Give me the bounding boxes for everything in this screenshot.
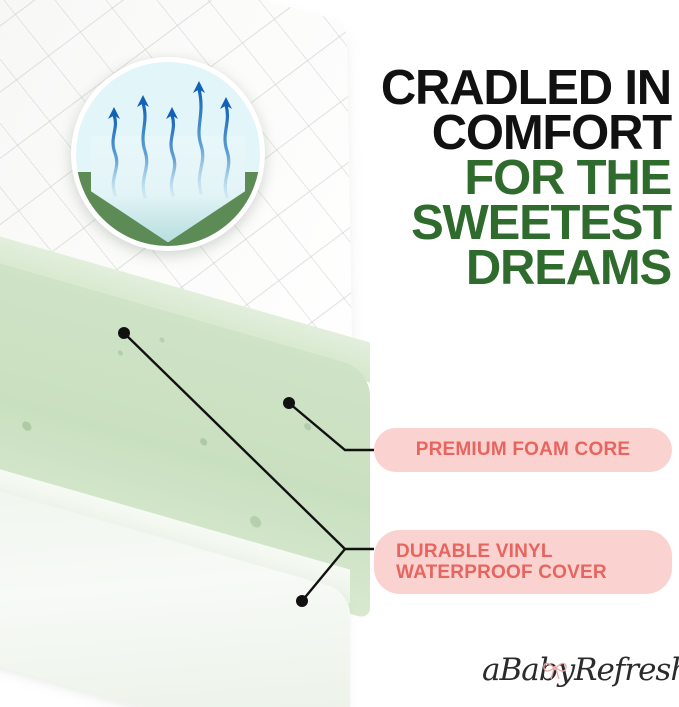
brand-logo-text: aBabyRefresh [482, 652, 679, 688]
bow-icon [542, 658, 568, 680]
badge-premium-foam-core: PREMIUM FOAM CORE [374, 428, 672, 472]
badge-durable-vinyl-line-2: WATERPROOF COVER [396, 562, 607, 583]
headline-line-1: CRADLED IN [311, 66, 671, 111]
headline-line-5: DREAMS [311, 246, 671, 291]
badge-durable-vinyl-line-1: DURABLE VINYL [396, 541, 553, 562]
brand-logo-name: aBabyRefresh [482, 652, 679, 688]
badge-durable-vinyl-label: DURABLE VINYL WATERPROOF COVER [396, 541, 607, 584]
inset-circle [71, 57, 265, 251]
headline: CRADLED IN COMFORT FOR THE SWEETEST DREA… [311, 66, 671, 291]
headline-line-4: SWEETEST [311, 201, 671, 246]
headline-line-3: FOR THE [311, 156, 671, 201]
brand-logo: aBabyRefresh [482, 652, 672, 694]
badge-durable-vinyl-waterproof-cover: DURABLE VINYL WATERPROOF COVER [374, 530, 672, 594]
headline-line-2: COMFORT [311, 111, 671, 156]
product-infographic: CRADLED IN COMFORT FOR THE SWEETEST DREA… [0, 0, 679, 707]
breathability-inset [71, 45, 267, 253]
badge-premium-foam-core-label: PREMIUM FOAM CORE [416, 439, 631, 460]
